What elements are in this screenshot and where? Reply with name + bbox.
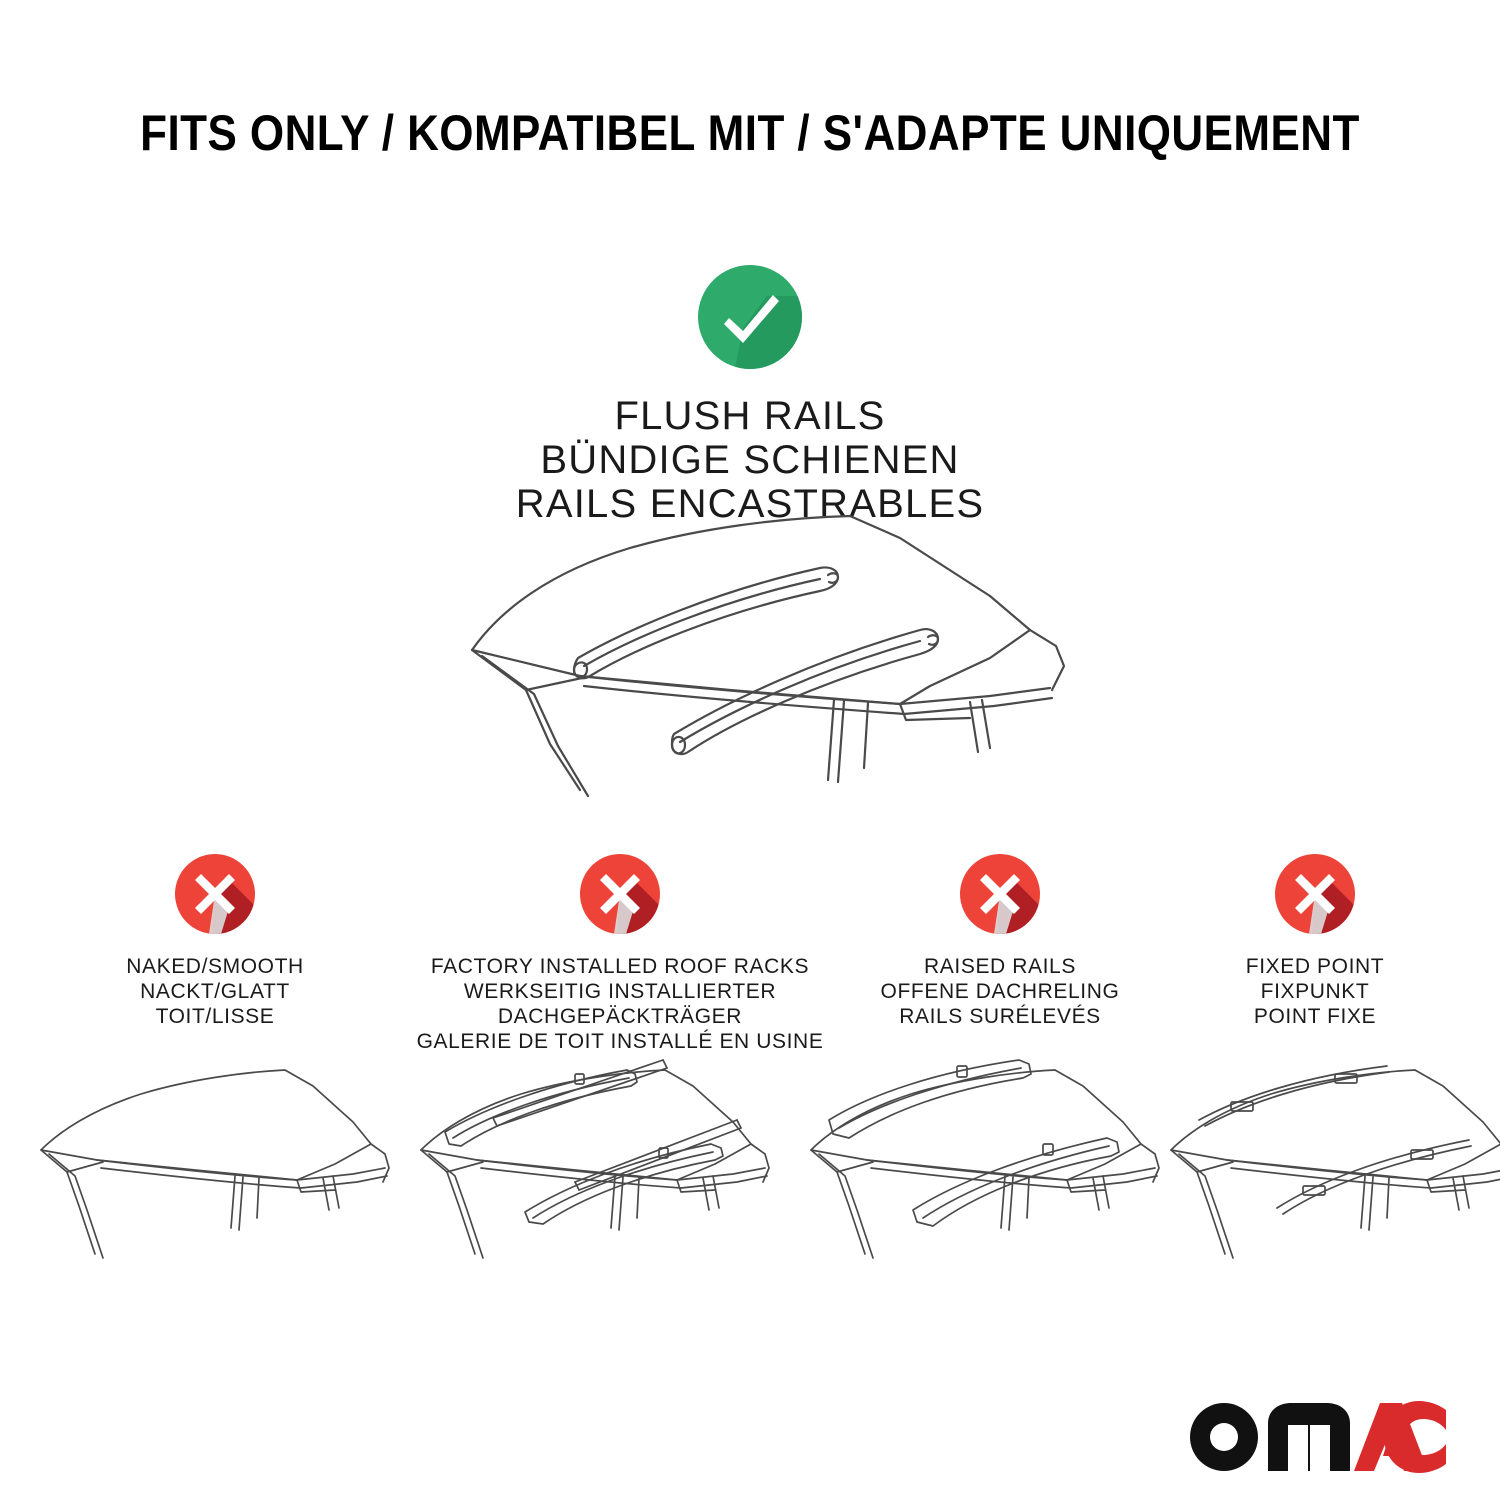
incompatible-label-1-line-1: NAKED/SMOOTH (45, 954, 385, 979)
incompatible-label-2: FACTORY INSTALLED ROOF RACKS WERKSEITIG … (400, 954, 840, 1054)
incompatible-col-naked-smooth: NAKED/SMOOTH NACKT/GLATT TOIT/LISSE (45, 848, 385, 1029)
infographic-page: FITS ONLY / KOMPATIBEL MIT / S'ADAPTE UN… (0, 0, 1500, 1500)
incompatible-illustration-1 (35, 1058, 395, 1288)
red-x-circle-icon (1269, 848, 1361, 940)
incompatible-label-3-line-2: OFFENE DACHRELING (830, 979, 1170, 1004)
omac-logo (1188, 1398, 1448, 1476)
logo-letter-o (1190, 1403, 1258, 1471)
incompatible-label-2-line-2: WERKSEITIG INSTALLIERTER (400, 979, 840, 1004)
logo-letter-m (1268, 1403, 1350, 1471)
compatible-label-line-2: BÜNDIGE SCHIENEN (250, 438, 1250, 482)
car-roof-naked-icon (35, 1058, 395, 1288)
incompatible-illustration-row (0, 1058, 1500, 1288)
red-x-circle-icon (954, 848, 1046, 940)
incompatible-icon-wrap-1 (45, 848, 385, 940)
incompatible-label-2-line-3: DACHGEPÄCKTRÄGER (400, 1004, 840, 1029)
incompatible-label-1-line-2: NACKT/GLATT (45, 979, 385, 1004)
incompatible-illustration-3 (805, 1058, 1165, 1288)
red-x-circle-icon (169, 848, 261, 940)
incompatible-label-1-line-3: TOIT/LISSE (45, 1004, 385, 1029)
incompatible-col-factory-racks: FACTORY INSTALLED ROOF RACKS WERKSEITIG … (400, 848, 840, 1054)
incompatible-illustration-4 (1165, 1058, 1500, 1288)
compatible-block: FLUSH RAILS BÜNDIGE SCHIENEN RAILS ENCAS… (250, 258, 1250, 526)
incompatible-label-3: RAISED RAILS OFFENE DACHRELING RAILS SUR… (830, 954, 1170, 1029)
incompatible-icon-wrap-2 (400, 848, 840, 940)
incompatible-row: NAKED/SMOOTH NACKT/GLATT TOIT/LISSE (0, 848, 1500, 1068)
incompatible-col-raised-rails: RAISED RAILS OFFENE DACHRELING RAILS SUR… (830, 848, 1170, 1029)
incompatible-label-4-line-1: FIXED POINT (1165, 954, 1465, 979)
incompatible-label-3-line-3: RAILS SURÉLEVÉS (830, 1004, 1170, 1029)
incompatible-icon-wrap-4 (1165, 848, 1465, 940)
car-roof-with-flush-rails-icon (430, 490, 1090, 800)
incompatible-label-2-line-1: FACTORY INSTALLED ROOF RACKS (400, 954, 840, 979)
incompatible-col-fixed-point: FIXED POINT FIXPUNKT POINT FIXE (1165, 848, 1465, 1029)
compatible-illustration (430, 490, 1090, 800)
incompatible-label-4-line-2: FIXPUNKT (1165, 979, 1465, 1004)
car-roof-fixed-point-icon (1165, 1058, 1500, 1288)
incompatible-label-4-line-3: POINT FIXE (1165, 1004, 1465, 1029)
car-roof-raised-rails-icon (805, 1058, 1165, 1288)
incompatible-label-3-line-1: RAISED RAILS (830, 954, 1170, 979)
red-x-circle-icon (574, 848, 666, 940)
incompatible-illustration-2 (415, 1058, 775, 1288)
incompatible-label-2-line-4: GALERIE DE TOIT INSTALLÉ EN USINE (400, 1029, 840, 1054)
incompatible-icon-wrap-3 (830, 848, 1170, 940)
compatible-icon-wrap (250, 258, 1250, 376)
incompatible-label-1: NAKED/SMOOTH NACKT/GLATT TOIT/LISSE (45, 954, 385, 1029)
page-title: FITS ONLY / KOMPATIBEL MIT / S'ADAPTE UN… (90, 104, 1410, 162)
omac-logo-icon (1188, 1398, 1448, 1476)
compatible-label-line-1: FLUSH RAILS (250, 394, 1250, 438)
car-roof-factory-racks-icon (415, 1058, 775, 1288)
incompatible-label-4: FIXED POINT FIXPUNKT POINT FIXE (1165, 954, 1465, 1029)
green-check-circle-icon (691, 258, 809, 376)
